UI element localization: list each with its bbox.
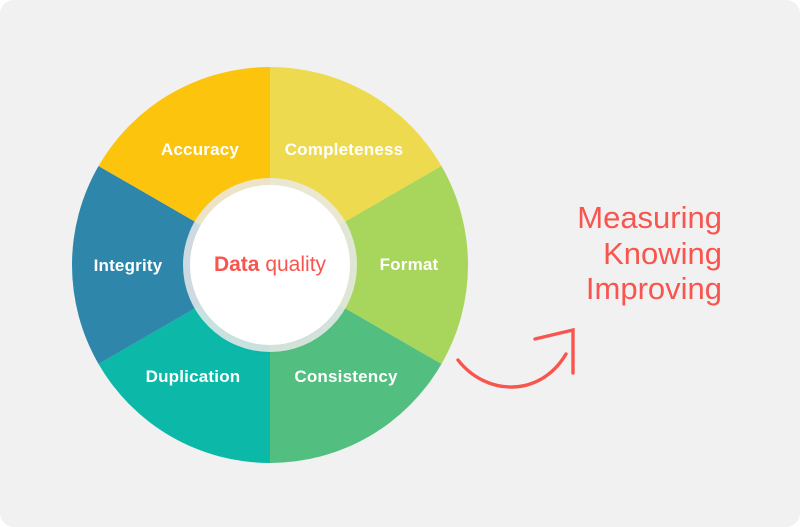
center-label-strong: Data — [214, 253, 260, 276]
curved-arrow-icon — [452, 318, 622, 418]
center-label: Data quality — [214, 253, 326, 277]
center-label-light: quality — [265, 253, 326, 276]
arrow-curve-path — [458, 354, 566, 387]
tagline-line-3: Improving — [577, 271, 722, 307]
infographic-canvas: CompletenessFormatConsistencyDuplication… — [0, 0, 800, 527]
tagline-line-2: Knowing — [577, 236, 722, 272]
tagline-line-1: Measuring — [577, 200, 722, 236]
data-quality-donut-chart: CompletenessFormatConsistencyDuplication… — [72, 67, 468, 463]
arrow-head-path — [535, 330, 573, 373]
donut-center-hub: Data quality — [190, 185, 350, 345]
tagline-block: Measuring Knowing Improving — [577, 200, 722, 307]
